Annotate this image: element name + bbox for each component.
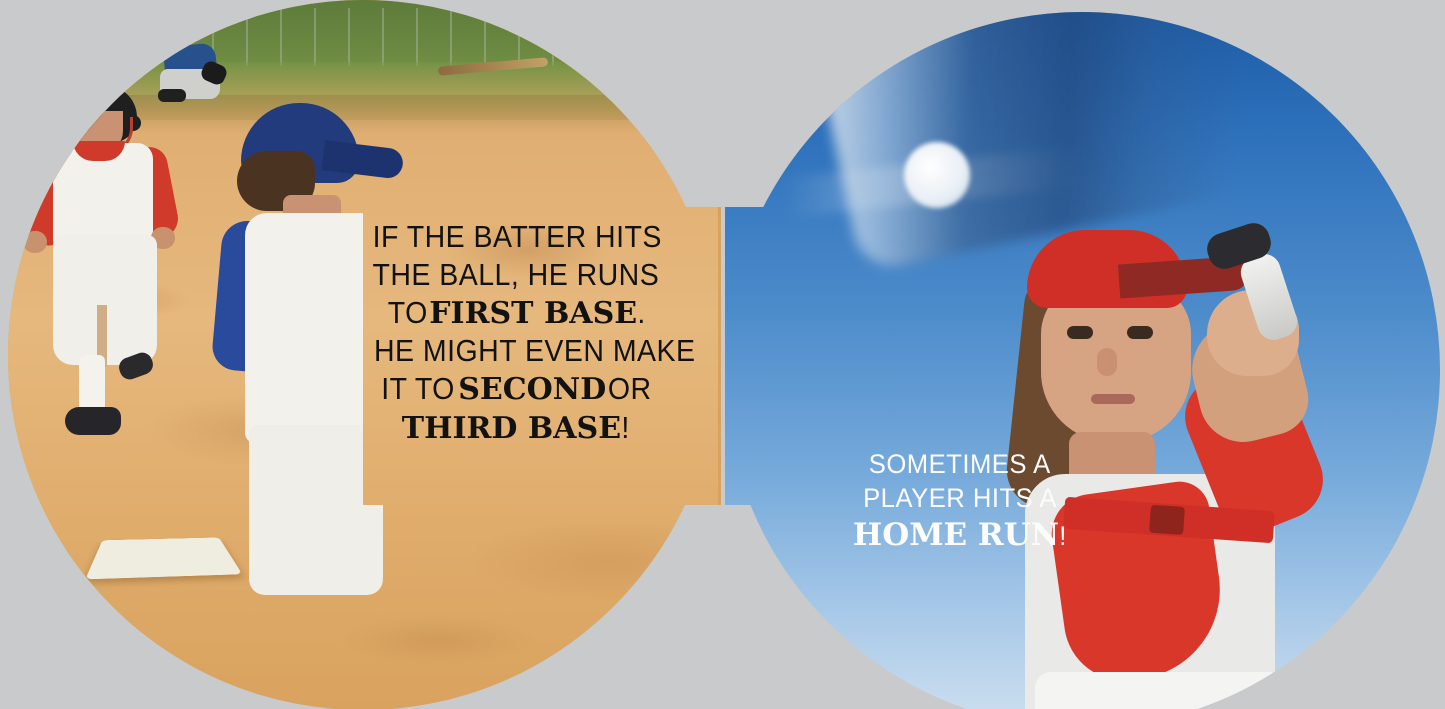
caption-line-3: TO FIRST BASE.: [360, 294, 672, 333]
right-photo-circle: [724, 12, 1440, 709]
caption-line-2: THE BALL, HE RUNS: [360, 256, 672, 294]
book-spread-page: IF THE BATTER HITS THE BALL, HE RUNS TO …: [0, 0, 1445, 709]
right-caption-line-1: SOMETIMES A: [845, 448, 1075, 482]
right-panel-home-run: [724, 12, 1440, 709]
home-run-caption: SOMETIMES A PLAYER HITS A HOME RUN!: [845, 448, 1075, 554]
caption-line-5: IT TO SECOND OR: [360, 370, 672, 409]
caption-line-4: HE MIGHT EVEN MAKE: [360, 332, 672, 370]
panel-seam: [721, 200, 725, 512]
baseball-blurred: [904, 142, 970, 208]
running-player: [23, 55, 223, 505]
right-caption-line-3: HOME RUN!: [845, 516, 1075, 555]
right-caption-line-2: PLAYER HITS A: [845, 482, 1075, 516]
first-base-caption: IF THE BATTER HITS THE BALL, HE RUNS TO …: [360, 218, 672, 447]
caption-line-6: THIRD BASE!: [360, 409, 672, 448]
caption-line-1: IF THE BATTER HITS: [360, 218, 672, 256]
home-run-photo: [724, 12, 1440, 709]
